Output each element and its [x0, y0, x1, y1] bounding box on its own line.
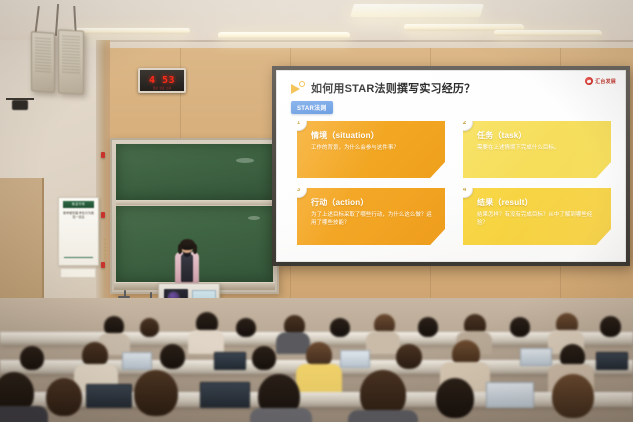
chalkboard-upper-panel: [116, 144, 273, 200]
presentation-slide: 汇台发展 如何用STAR法则撰写实习经历？ STAR法则 1 情境（situat…: [277, 71, 625, 261]
card-number-badge: 3: [290, 181, 307, 198]
star-method-badge: STAR法则: [291, 101, 333, 114]
audience-body: [296, 364, 342, 394]
notice-title: 教学楼管理 学生行为规范一览表: [63, 211, 94, 220]
notice-item-list: 一、按时到课，不迟到早退 二、保持教室环境整洁 三、禁止在教室内吸烟 四、爱护公…: [64, 238, 104, 263]
audience-laptop: [200, 382, 250, 408]
brand-logo: 汇台发展: [585, 77, 616, 85]
card-number-badge: 4: [456, 181, 473, 198]
led-wall-clock: 4 53 温度 湿度 日期: [138, 68, 186, 93]
audience-head: [134, 370, 178, 416]
screen-surface: 汇台发展 如何用STAR法则撰写实习经历？ STAR法则 1 情境（situat…: [276, 70, 626, 262]
card-number-badge: 2: [456, 114, 473, 131]
audience-head: [418, 317, 438, 337]
audience-laptop: [86, 384, 132, 408]
circle-outline-shape: [299, 81, 305, 87]
star-card-result: 4 结果（result） 结果怎样？有没有完成目标？从中了解到哪些经验？: [463, 188, 611, 245]
lecture-hall-photo: 4 53 温度 湿度 日期 教室守则 教学楼管理 学生行为规范一览表 一、按时到…: [0, 0, 633, 422]
wall-notice-board: 教室守则 教学楼管理 学生行为规范一览表 一、按时到课，不迟到早退 二、保持教室…: [58, 197, 99, 266]
audience-head: [600, 316, 621, 337]
audience-laptop: [596, 352, 628, 370]
audience-head: [396, 344, 422, 369]
clock-caption: 温度 湿度 日期: [140, 86, 184, 90]
chalkboard-divider: [116, 200, 273, 205]
audience-laptop: [486, 382, 534, 408]
card-body-text: 为了上述目标采取了哪些行动，为什么这么做？运用了哪些技能？: [311, 212, 435, 227]
ceiling-light-tube: [493, 30, 602, 36]
notice-header-bar: 教室守则: [63, 201, 94, 208]
audience-body: [348, 410, 418, 422]
ceiling-light-tube: [71, 28, 190, 34]
audience-head: [46, 378, 82, 416]
audience-head: [510, 317, 530, 337]
presenter-hair-side: [193, 244, 197, 254]
card-body-text: 需要在上述情境下完成什么目标。: [477, 145, 601, 153]
speech-bubble-icon: [585, 77, 593, 85]
ceiling-speaker: [58, 29, 84, 94]
card-number-badge: 1: [290, 114, 307, 131]
security-camera: [12, 100, 28, 110]
wall-small-placard: [60, 268, 96, 278]
slide-title: 如何用STAR法则撰写实习经历？: [311, 80, 475, 96]
star-card-action: 3 行动（action） 为了上述目标采取了哪些行动，为什么这么做？运用了哪些技…: [297, 188, 445, 245]
audience-body: [366, 331, 400, 354]
audience-head: [140, 318, 159, 337]
brand-name: 汇台发展: [595, 78, 616, 85]
audience-laptop: [340, 350, 370, 368]
notice-header-text: 教室守则: [63, 201, 94, 208]
audience-head: [252, 346, 276, 370]
presenter-hair-side: [178, 244, 182, 254]
audience-laptop: [122, 352, 152, 370]
audience-head: [552, 374, 594, 418]
audience-body: [276, 332, 310, 354]
card-heading: 行动（action）: [311, 198, 435, 208]
star-card-task: 2 任务（task） 需要在上述情境下完成什么目标。: [463, 121, 611, 178]
presenter-vest: [181, 254, 193, 282]
audience-head: [160, 344, 185, 369]
notice-divider: [64, 257, 93, 258]
wall-marker-icon: [101, 262, 105, 268]
audience-head: [330, 318, 350, 337]
ceiling-light-tube: [218, 32, 350, 39]
wall-marker-icon: [101, 152, 105, 158]
card-heading: 任务（task）: [477, 131, 601, 141]
star-card-grid: 1 情境（situation） 工作的背景，为什么会参与这件事？ 2 任务（ta…: [297, 121, 611, 245]
slide-title-row: 如何用STAR法则撰写实习经历？: [291, 80, 613, 96]
ceiling-light-panel: [350, 4, 484, 17]
wall-marker-icon: [101, 212, 105, 218]
chalk-smudge: [236, 158, 254, 163]
audience-head: [436, 378, 474, 418]
wall-corner-edge: [96, 40, 110, 332]
ceiling-speaker: [31, 31, 55, 93]
clock-time: 4 53: [149, 76, 175, 86]
star-card-situation: 1 情境（situation） 工作的背景，为什么会参与这件事？: [297, 121, 445, 178]
audience-laptop: [520, 348, 552, 366]
card-body-text: 工作的背景，为什么会参与这件事？: [311, 145, 435, 153]
chalk-smudge: [248, 216, 260, 220]
audience-body: [250, 408, 312, 422]
audience-body: [0, 406, 48, 422]
card-body-text: 结果怎样？有没有完成目标？从中了解到哪些经验？: [477, 212, 601, 227]
card-heading: 结果（result）: [477, 198, 601, 208]
audience-head: [236, 318, 256, 337]
presenter: [172, 240, 202, 288]
audience-head: [20, 346, 44, 370]
card-heading: 情境（situation）: [311, 131, 435, 141]
audience-laptop: [214, 352, 246, 370]
projection-screen: 汇台发展 如何用STAR法则撰写实习经历？ STAR法则 1 情境（situat…: [272, 66, 630, 266]
speaker-grille: [35, 37, 52, 74]
audience-body: [188, 330, 224, 354]
triangle-circle-bullet-icon: [291, 81, 305, 95]
speaker-grille: [62, 35, 80, 74]
